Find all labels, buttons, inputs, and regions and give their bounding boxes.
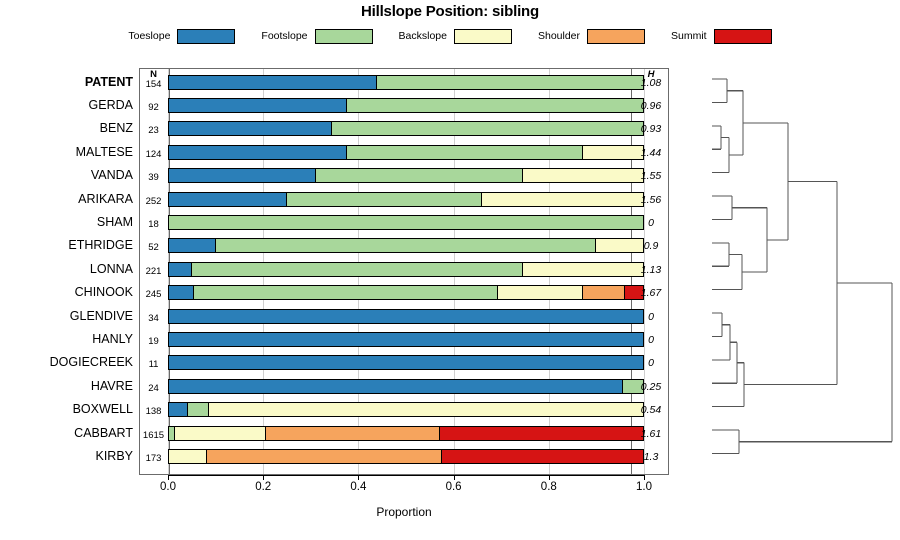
row-label: BOXWELL [0,402,133,417]
bar-segment [286,192,482,207]
stacked-bar [168,309,644,324]
stacked-bar [168,379,644,394]
bar-segment [168,98,347,113]
stacked-bar [168,168,644,183]
row-h-value: 0.54 [633,403,669,418]
bar-segment [168,309,644,324]
legend-label: Summit [671,31,707,42]
bar-segment [168,402,188,417]
legend-label: Toeslope [128,31,170,42]
bar-segment [168,379,623,394]
row-n-value: 221 [139,264,168,279]
row-n-value: 252 [139,194,168,209]
stacked-bar [168,98,644,113]
bar-segment [191,262,523,277]
row-label: VANDA [0,168,133,183]
row-h-value: 0.96 [633,99,669,114]
bar-segment [331,121,644,136]
bar-segment [168,121,332,136]
row-h-value: 1.56 [633,193,669,208]
row-label: LONNA [0,262,133,277]
bar-segment [168,449,207,464]
row-label: GLENDIVE [0,309,133,324]
bar-segment [346,145,584,160]
legend-swatch [714,29,772,44]
row-n-value: 39 [139,170,168,185]
legend-item-summit: Summit [671,29,772,44]
bar-segment [376,75,644,90]
row-label: MALTESE [0,145,133,160]
bar-segment [315,168,523,183]
row-h-value: 0.25 [633,380,669,395]
bar-segment [168,168,316,183]
row-label: CHINOOK [0,285,133,300]
stacked-bar [168,355,644,370]
axis-tick [263,475,264,480]
axis-tick [358,475,359,480]
legend-label: Shoulder [538,31,580,42]
row-label: GERDA [0,98,133,113]
row-h-value: 1.61 [633,427,669,442]
row-h-value: 0 [633,333,669,348]
row-h-value: 1.55 [633,169,669,184]
row-h-value: 0 [633,356,669,371]
row-n-value: 124 [139,147,168,162]
row-label: CABBART [0,426,133,441]
row-label: ARIKARA [0,192,133,207]
row-label: SHAM [0,215,133,230]
row-h-value: 0.9 [633,239,669,254]
row-n-value: 52 [139,240,168,255]
row-label: BENZ [0,121,133,136]
x-axis-label: Proportion [139,505,669,519]
stacked-bar [168,285,644,300]
stacked-bar [168,332,644,347]
bar-segment [193,285,498,300]
bar-segment [522,168,644,183]
row-n-value: 24 [139,381,168,396]
bar-segment [187,402,209,417]
axis-tick [168,475,169,480]
dendrogram [669,68,900,475]
row-h-value: 1.3 [633,450,669,465]
axis-tick-label: 0.8 [541,482,557,494]
row-label: ETHRIDGE [0,238,133,253]
legend-item-footslope: Footslope [261,29,372,44]
legend-swatch [587,29,645,44]
bar-segment [441,449,644,464]
row-label: HAVRE [0,379,133,394]
legend-swatch [315,29,373,44]
row-n-value: 1615 [139,428,168,443]
row-n-value: 92 [139,100,168,115]
row-h-value: 0.93 [633,122,669,137]
axis-line [168,475,644,476]
row-h-value: 0 [633,310,669,325]
legend-label: Footslope [261,31,307,42]
row-h-value: 1.08 [633,76,669,91]
bar-segment [168,332,644,347]
bar-segment [481,192,644,207]
row-n-value: 11 [139,357,168,372]
bar-segment [522,262,644,277]
bar-segment [168,285,194,300]
row-h-value: 1.67 [633,286,669,301]
legend-item-shoulder: Shoulder [538,29,645,44]
row-n-value: 154 [139,77,168,92]
stacked-bar [168,215,644,230]
axis-tick-label: 0.2 [255,482,271,494]
legend-item-backslope: Backslope [399,29,512,44]
legend-swatch [177,29,235,44]
bar-segment [215,238,597,253]
bar-segment [168,215,644,230]
bar-segment [439,426,644,441]
row-label: HANLY [0,332,133,347]
bar-segment [265,426,440,441]
stacked-bar [168,262,644,277]
axis-tick [644,475,645,480]
row-n-value: 18 [139,217,168,232]
stacked-bar [168,121,644,136]
axis-tick-label: 0.0 [160,482,176,494]
row-label: KIRBY [0,449,133,464]
row-h-value: 0 [633,216,669,231]
stacked-bar [168,238,644,253]
page-title: Hillslope Position: sibling [0,3,900,20]
legend: ToeslopeFootslopeBackslopeShoulderSummit [0,26,900,46]
bar-segment [208,402,644,417]
bar-segment [168,238,216,253]
bar-segment [582,285,625,300]
axis-tick [549,475,550,480]
legend-label: Backslope [399,31,447,42]
row-n-value: 138 [139,404,168,419]
axis-tick-label: 0.4 [350,482,366,494]
row-n-value: 34 [139,311,168,326]
bar-segment [168,145,347,160]
row-n-value: 245 [139,287,168,302]
bar-segment [174,426,266,441]
row-label: PATENT [0,75,133,90]
x-axis: 0.00.20.40.60.81.0 [139,475,669,505]
stacked-bar [168,75,644,90]
chart-root: Hillslope Position: sibling ToeslopeFoot… [0,0,900,540]
bar-segment [168,355,644,370]
bar-segment [168,262,192,277]
row-label: DOGIECREEK [0,355,133,370]
stacked-bar [168,145,644,160]
bar-segment [168,192,287,207]
row-h-value: 1.44 [633,146,669,161]
stacked-bar [168,449,644,464]
axis-tick [454,475,455,480]
bar-segment [168,75,377,90]
axis-tick-label: 0.6 [446,482,462,494]
stacked-bar [168,426,644,441]
legend-swatch [454,29,512,44]
row-n-value: 23 [139,123,168,138]
row-n-value: 173 [139,451,168,466]
stacked-bar [168,192,644,207]
bar-segment [497,285,583,300]
axis-tick-label: 1.0 [636,482,652,494]
row-h-value: 1.13 [633,263,669,278]
stacked-bar [168,402,644,417]
row-n-value: 19 [139,334,168,349]
bar-segment [206,449,442,464]
legend-item-toeslope: Toeslope [128,29,235,44]
bar-segment [346,98,645,113]
